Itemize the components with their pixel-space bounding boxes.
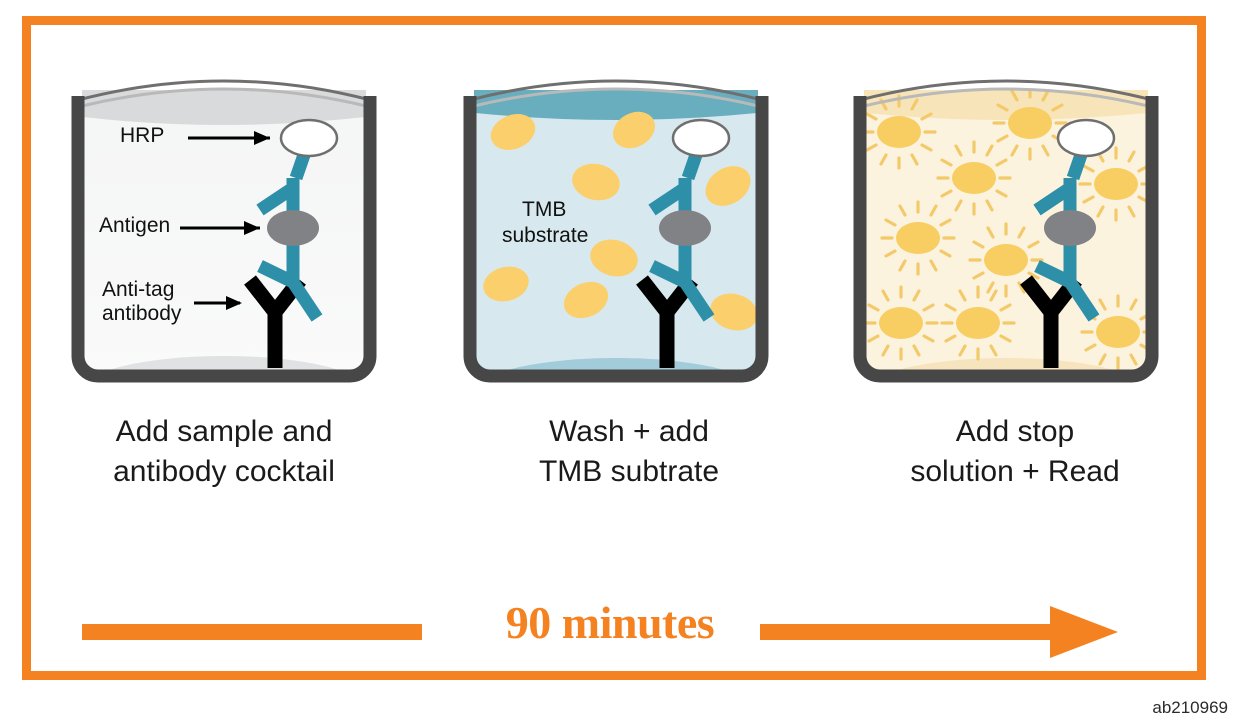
caption-step-2: Wash + add TMB subtrate xyxy=(449,412,809,491)
timeline-arrowhead xyxy=(1050,606,1118,658)
antigen xyxy=(659,210,711,246)
hrp-enzyme xyxy=(1058,120,1114,156)
antigen xyxy=(267,210,319,246)
caption-step-2-line1: Wash + add xyxy=(449,412,809,452)
timeline-duration-label: 90 minutes xyxy=(430,596,790,649)
caption-step-2-line2: TMB subtrate xyxy=(449,452,809,492)
label-tmb-line2: substrate xyxy=(502,224,588,249)
label-hrp: HRP xyxy=(120,124,164,149)
hrp-enzyme xyxy=(281,120,337,156)
timeline-bar-right xyxy=(760,624,1060,640)
well-step-3 xyxy=(846,60,1166,390)
hrp-enzyme xyxy=(673,120,729,156)
caption-step-3-line1: Add stop xyxy=(835,412,1195,452)
antigen xyxy=(1044,210,1096,246)
label-anti-tag-line1: Anti-tag xyxy=(102,278,174,303)
caption-step-1-line2: antibody cocktail xyxy=(44,452,404,492)
caption-step-3: Add stop solution + Read xyxy=(835,412,1195,491)
figure-canvas: HRP Antigen Anti-tag antibody xyxy=(0,0,1234,720)
label-tmb-line1: TMB xyxy=(522,198,566,223)
caption-step-1-line1: Add sample and xyxy=(44,412,404,452)
well-3-graphic xyxy=(846,60,1166,390)
label-antigen: Antigen xyxy=(99,214,170,239)
caption-step-3-line2: solution + Read xyxy=(835,452,1195,492)
caption-step-1: Add sample and antibody cocktail xyxy=(44,412,404,491)
catalog-number: ab210969 xyxy=(1152,698,1228,718)
well-step-1: HRP Antigen Anti-tag antibody xyxy=(64,60,384,390)
label-anti-tag-line2: antibody xyxy=(102,302,181,327)
timeline-bar-left xyxy=(82,624,422,640)
well-step-2: TMB substrate xyxy=(456,60,776,390)
